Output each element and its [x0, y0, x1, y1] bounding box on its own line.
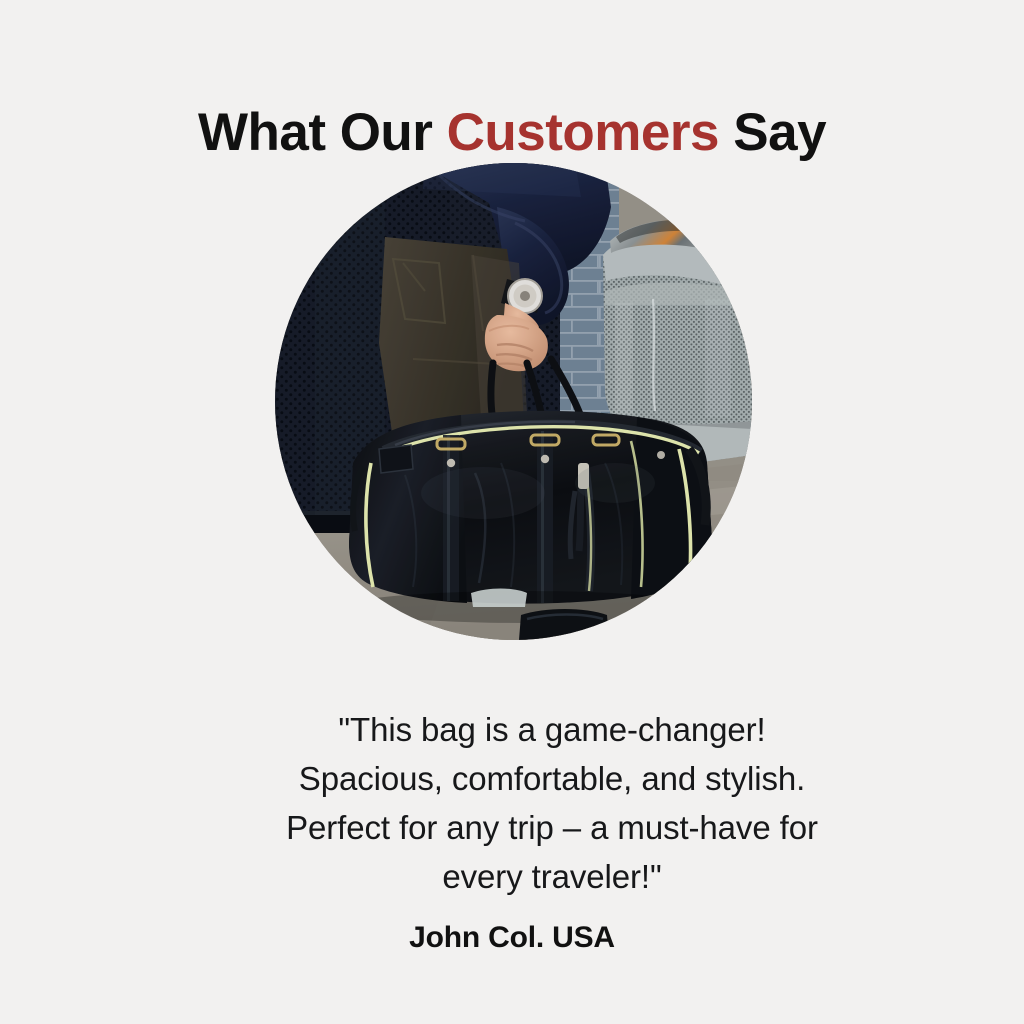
duffel-bag-photo-illustration — [275, 163, 752, 640]
testimonial-quote: "This bag is a game-changer! Spacious, c… — [152, 705, 952, 901]
page-title-part-1: What Our — [198, 103, 447, 162]
quote-line: "This bag is a game-changer! — [152, 705, 952, 754]
quote-line: Spacious, comfortable, and stylish. — [152, 754, 952, 803]
page-title-accent: Customers — [447, 103, 719, 162]
page-title-part-2: Say — [719, 103, 826, 162]
testimonial-photo — [275, 163, 752, 640]
quote-line: every traveler!" — [152, 852, 952, 901]
quote-line: Perfect for any trip – a must-have for — [152, 803, 952, 852]
testimonial-author: John Col. USA — [0, 921, 1024, 955]
testimonial-card: What Our Customers Say — [0, 0, 1024, 1024]
page-title: What Our Customers Say — [0, 104, 1024, 161]
